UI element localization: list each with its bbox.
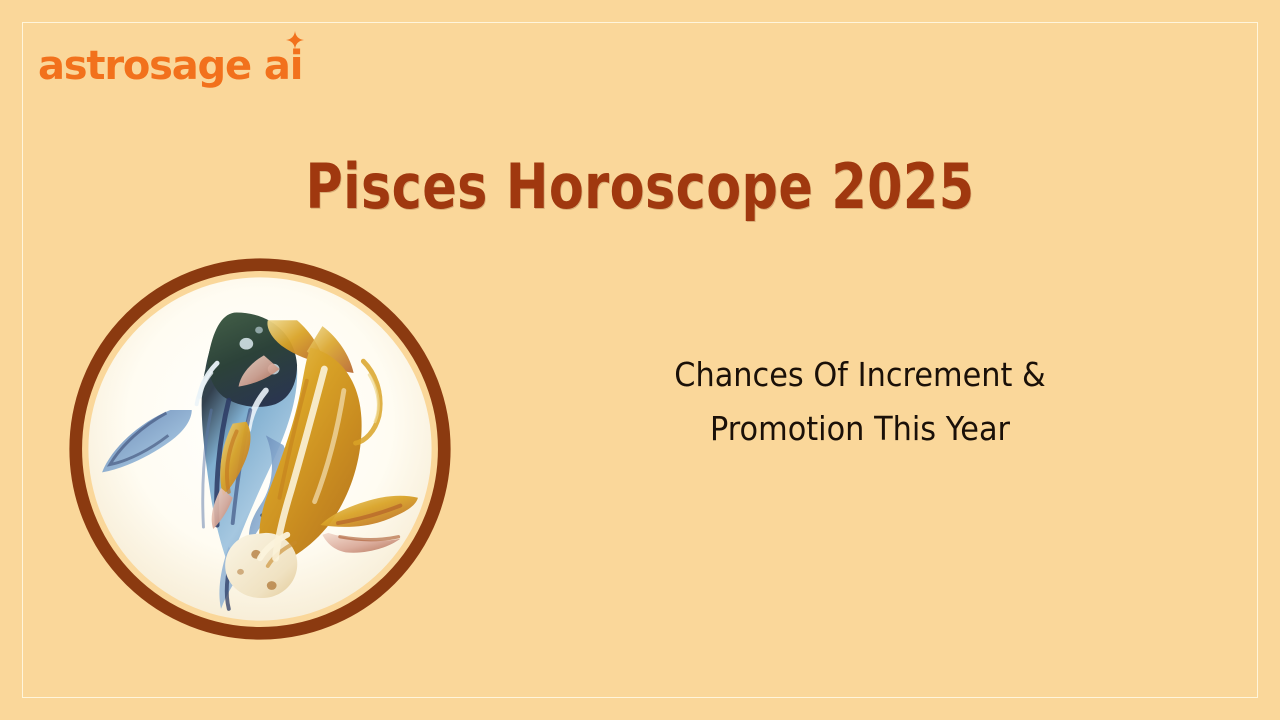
logo-ai-wrap: ai: [264, 44, 302, 88]
page-title: Pisces Horoscope 2025: [115, 152, 1165, 222]
logo-ai-text: ai: [264, 43, 302, 89]
subtitle-line-2: Promotion This Year: [621, 402, 1099, 456]
sparkle-icon: [286, 31, 304, 49]
subtitle: Chances Of Increment & Promotion This Ye…: [621, 348, 1099, 456]
subtitle-line-1: Chances Of Increment &: [621, 348, 1099, 402]
logo-wordmark: astrosage: [38, 44, 251, 88]
horoscope-banner: astrosage ai Pisces Horoscope 2025 Chanc…: [0, 0, 1280, 720]
astrosage-ai-logo[interactable]: astrosage ai: [38, 44, 302, 88]
pisces-zodiac-icon: [65, 253, 455, 645]
